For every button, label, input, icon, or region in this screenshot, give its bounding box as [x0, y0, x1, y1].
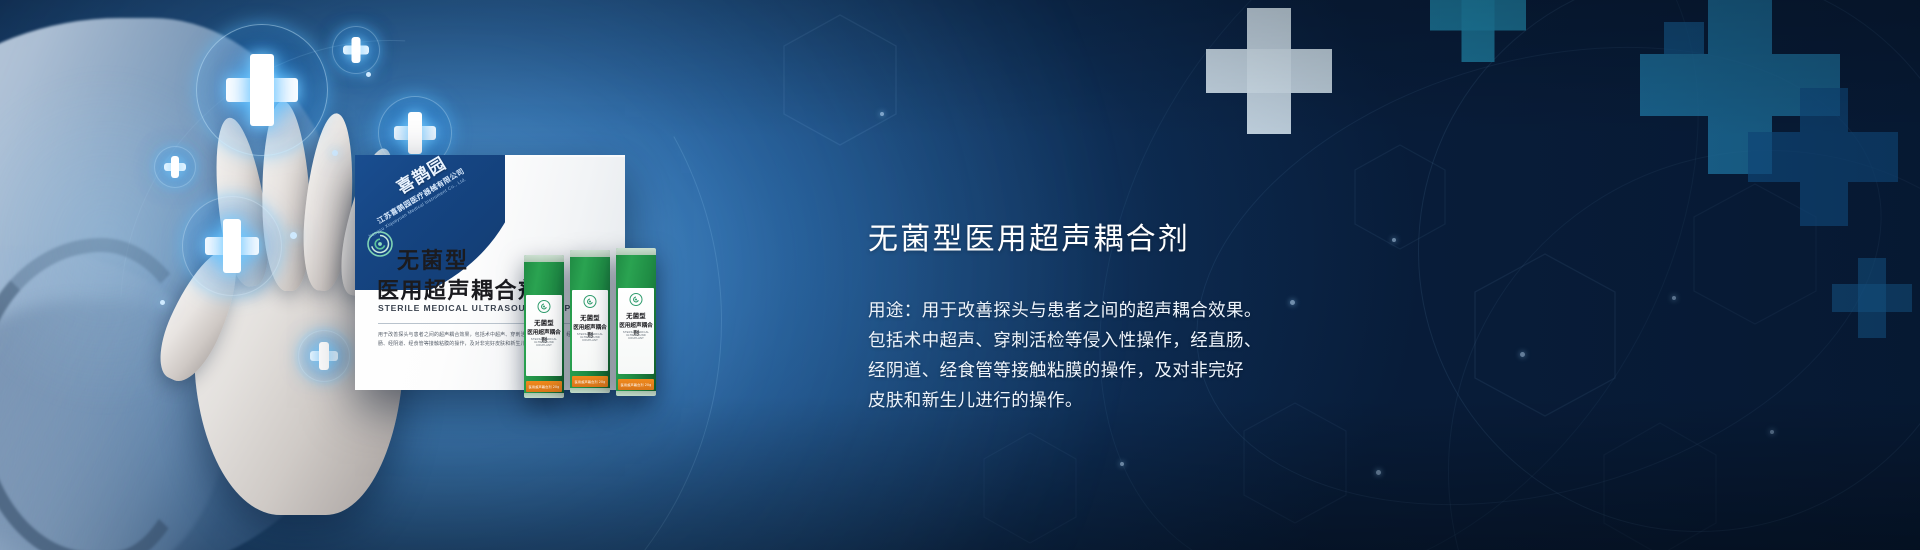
sachet: 无菌型 医用超声耦合剂 STERILE MEDICAL ULTRASOUND C…	[570, 250, 610, 393]
sachet-label: 无菌型 医用超声耦合剂 STERILE MEDICAL ULTRASOUND C…	[618, 288, 654, 374]
medical-cross-large-icon	[196, 24, 328, 156]
sachet-group: 无菌型 医用超声耦合剂 STERILE MEDICAL ULTRASOUND C…	[524, 248, 670, 398]
sachet-footer-text: 医用超声耦合剂 20g	[526, 381, 562, 392]
medical-cross-bottom-icon	[298, 330, 350, 382]
sachet-crimp-bottom	[524, 393, 564, 398]
medical-cross-left-icon	[182, 196, 282, 296]
sachet-label: 无菌型 医用超声耦合剂 STERILE MEDICAL ULTRASOUND C…	[526, 295, 562, 376]
sachet-crimp-top	[524, 255, 564, 262]
sachet-name-en: STERILE MEDICAL ULTRASOUND COUPLANT	[526, 338, 562, 347]
sachet: 无菌型 医用超声耦合剂 STERILE MEDICAL ULTRASOUND C…	[524, 255, 564, 398]
sachet-footer-text: 医用超声耦合剂 20g	[572, 376, 608, 387]
product-banner: 喜鹊园 江苏喜鹊园医疗器械有限公司 Jiangsu Xiqueyuan Medi…	[0, 0, 1920, 550]
sachet-crimp-top	[616, 248, 656, 255]
sachet-footer: 医用超声耦合剂 20g	[572, 376, 608, 387]
sachet: 无菌型 医用超声耦合剂 STERILE MEDICAL ULTRASOUND C…	[616, 248, 656, 396]
sachet-footer-text: 医用超声耦合剂 20g	[618, 379, 654, 390]
sachet-crimp-bottom	[570, 388, 610, 393]
medical-cross-tiny-icon	[154, 146, 196, 188]
sachet-label: 无菌型 医用超声耦合剂 STERILE MEDICAL ULTRASOUND C…	[572, 290, 608, 371]
brand-logo-icon	[538, 300, 551, 313]
sachet-name-line1: 无菌型	[572, 313, 608, 322]
product-box-name-line1: 无菌型	[397, 243, 469, 275]
sachet-name-en: STERILE MEDICAL ULTRASOUND COUPLANT	[572, 333, 608, 342]
text-panel: 无菌型医用超声耦合剂 用途：用于改善探头与患者之间的超声耦合效果。 包括术中超声…	[868, 222, 1568, 416]
sachet-name-line1: 无菌型	[526, 318, 562, 327]
spark	[366, 72, 371, 77]
sachet-name-en: STERILE MEDICAL ULTRASOUND COUPLANT	[618, 331, 654, 340]
description-line: 用途：用于改善探头与患者之间的超声耦合效果。	[868, 296, 1568, 326]
page-title: 无菌型医用超声耦合剂	[868, 222, 1568, 258]
spark	[160, 300, 165, 305]
description-line: 包括术中超声、穿刺活检等侵入性操作，经直肠、	[868, 326, 1568, 356]
sachet-footer: 医用超声耦合剂 20g	[526, 381, 562, 392]
spark	[290, 232, 297, 239]
sachet-crimp-bottom	[616, 391, 656, 396]
description-line: 经阴道、经食管等接触粘膜的操作，及对非完好	[868, 356, 1568, 386]
brand-logo-icon	[630, 293, 643, 306]
sachet-crimp-top	[570, 250, 610, 257]
brand-logo-icon	[584, 295, 597, 308]
sachet-footer: 医用超声耦合剂 20g	[618, 379, 654, 390]
spark	[332, 150, 338, 156]
product-box-name-line2: 医用超声耦合剂	[377, 273, 542, 305]
sachet-name-line1: 无菌型	[618, 311, 654, 320]
description-text: 用途：用于改善探头与患者之间的超声耦合效果。 包括术中超声、穿刺活检等侵入性操作…	[868, 296, 1568, 416]
description-line: 皮肤和新生儿进行的操作。	[868, 386, 1568, 416]
medical-cross-small-icon	[332, 26, 380, 74]
